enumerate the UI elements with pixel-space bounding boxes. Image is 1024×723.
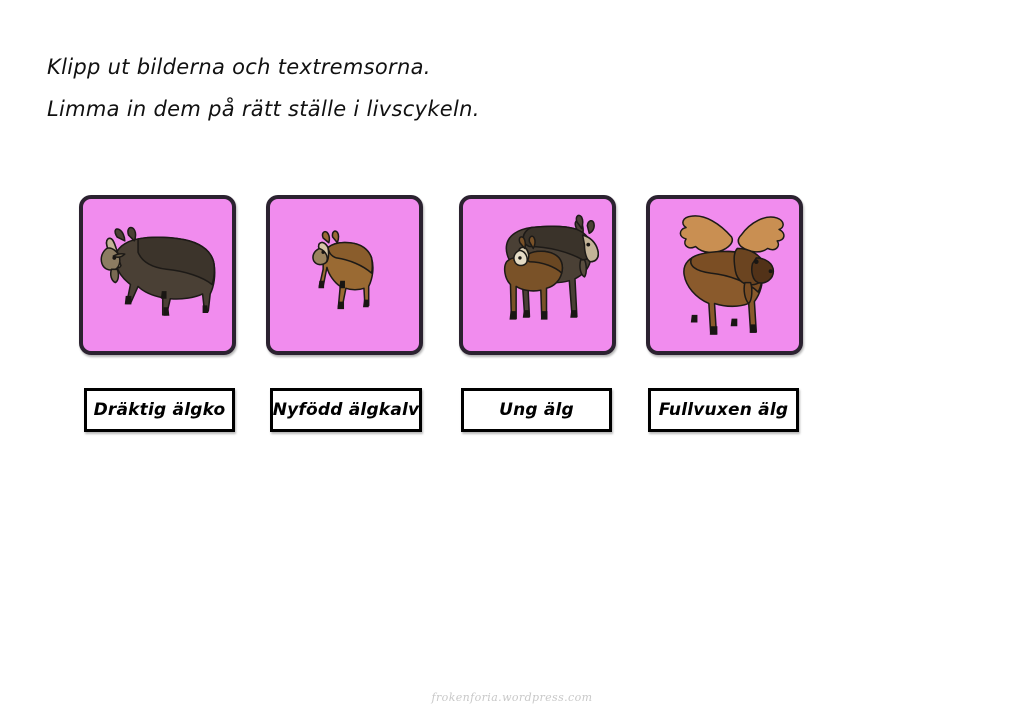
text-label-fullvuxen-alg[interactable]: Fullvuxen älg: [648, 388, 799, 432]
picture-card-young-moose[interactable]: [459, 195, 616, 355]
footer-watermark: frokenforia.wordpress.com: [0, 691, 1024, 704]
newborn-moose-calf-icon: [270, 199, 419, 351]
text-label-nyfodd-algkalv[interactable]: Nyfödd älgkalv: [270, 388, 422, 432]
text-label-strip: Dräktig älgko Nyfödd älgkalv Ung älg Ful…: [0, 388, 1024, 434]
instructions-block: Klipp ut bilderna och textremsorna. Limm…: [47, 46, 847, 130]
text-label-ung-alg[interactable]: Ung älg: [461, 388, 612, 432]
pregnant-moose-cow-icon: [83, 199, 232, 351]
picture-card-pregnant-moose-cow[interactable]: [79, 195, 236, 355]
adult-bull-moose-icon: [650, 199, 799, 351]
worksheet-page: Klipp ut bilderna och textremsorna. Limm…: [0, 0, 1024, 723]
text-label-value: Fullvuxen älg: [659, 400, 789, 420]
text-label-draktig-algko[interactable]: Dräktig älgko: [84, 388, 235, 432]
instruction-line-2: Limma in dem på rätt ställe i livscykeln…: [47, 88, 847, 130]
text-label-value: Dräktig älgko: [94, 400, 226, 420]
text-label-value: Nyfödd älgkalv: [273, 400, 420, 420]
picture-card-adult-bull-moose[interactable]: [646, 195, 803, 355]
picture-card-strip: [0, 195, 1024, 357]
picture-card-newborn-moose-calf[interactable]: [266, 195, 423, 355]
text-label-value: Ung älg: [499, 400, 574, 420]
instruction-line-1: Klipp ut bilderna och textremsorna.: [47, 46, 847, 88]
young-moose-with-cow-icon: [463, 199, 612, 351]
